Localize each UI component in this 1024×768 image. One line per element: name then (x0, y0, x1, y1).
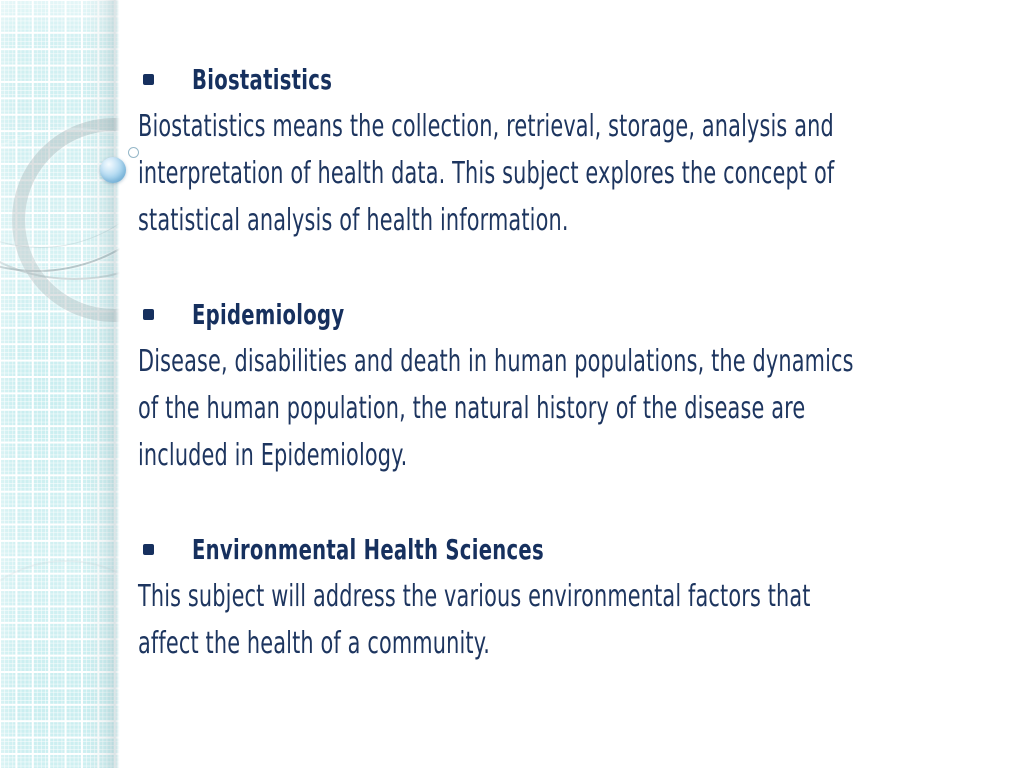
body-line: This subject will address the various en… (138, 573, 736, 620)
content-block-biostatistics: Biostatistics Biostatistics means the co… (138, 56, 998, 244)
section-heading: Epidemiology (192, 301, 344, 329)
body-line: statistical analysis of health informati… (138, 197, 736, 244)
body-line: affect the health of a community. (138, 620, 736, 667)
section-heading: Biostatistics (192, 66, 332, 94)
blue-sphere-icon (100, 157, 126, 183)
square-bullet-icon (143, 74, 154, 85)
square-bullet-icon (143, 309, 154, 320)
body-line: Biostatistics means the collection, retr… (138, 103, 736, 150)
presentation-slide: Biostatistics Biostatistics means the co… (0, 0, 1024, 768)
slide-content: Biostatistics Biostatistics means the co… (138, 56, 998, 667)
square-bullet-icon (143, 544, 154, 555)
body-line: Disease, disabilities and death in human… (138, 338, 736, 385)
section-heading: Environmental Health Sciences (192, 536, 544, 564)
band-edge-shading (0, 0, 120, 768)
bullet-heading-row: Environmental Health Sciences (138, 526, 998, 573)
content-block-environmental-health-sciences: Environmental Health Sciences This subje… (138, 526, 998, 667)
body-line: of the human population, the natural his… (138, 385, 736, 432)
decorative-side-band (0, 0, 120, 768)
bullet-heading-row: Biostatistics (138, 56, 998, 103)
body-line: interpretation of health data. This subj… (138, 150, 736, 197)
content-block-epidemiology: Epidemiology Disease, disabilities and d… (138, 291, 998, 479)
body-line: included in Epidemiology. (138, 432, 736, 479)
bullet-heading-row: Epidemiology (138, 291, 998, 338)
